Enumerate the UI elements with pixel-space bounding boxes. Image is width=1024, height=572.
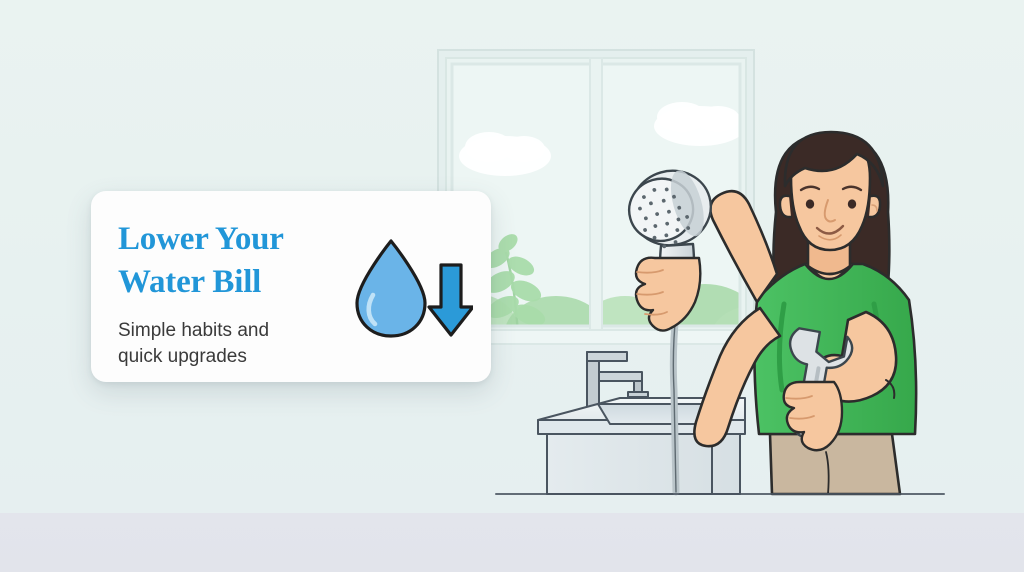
floor-baseline [495,493,945,495]
headline-card: Lower Your Water Bill Simple habits and … [91,191,491,382]
pants [770,434,900,494]
down-arrow-icon [429,265,473,335]
card-icon-group [349,235,473,343]
water-droplet-icon [357,241,425,336]
card-text-block: Lower Your Water Bill Simple habits and … [118,218,348,370]
card-subtitle-line2: quick upgrades [118,344,348,370]
card-title-line1: Lower Your [118,218,348,261]
illustration-canvas: Lower Your Water Bill Simple habits and … [0,0,1024,572]
card-title-line2: Water Bill [118,261,348,304]
card-subtitle-line1: Simple habits and [118,318,348,344]
